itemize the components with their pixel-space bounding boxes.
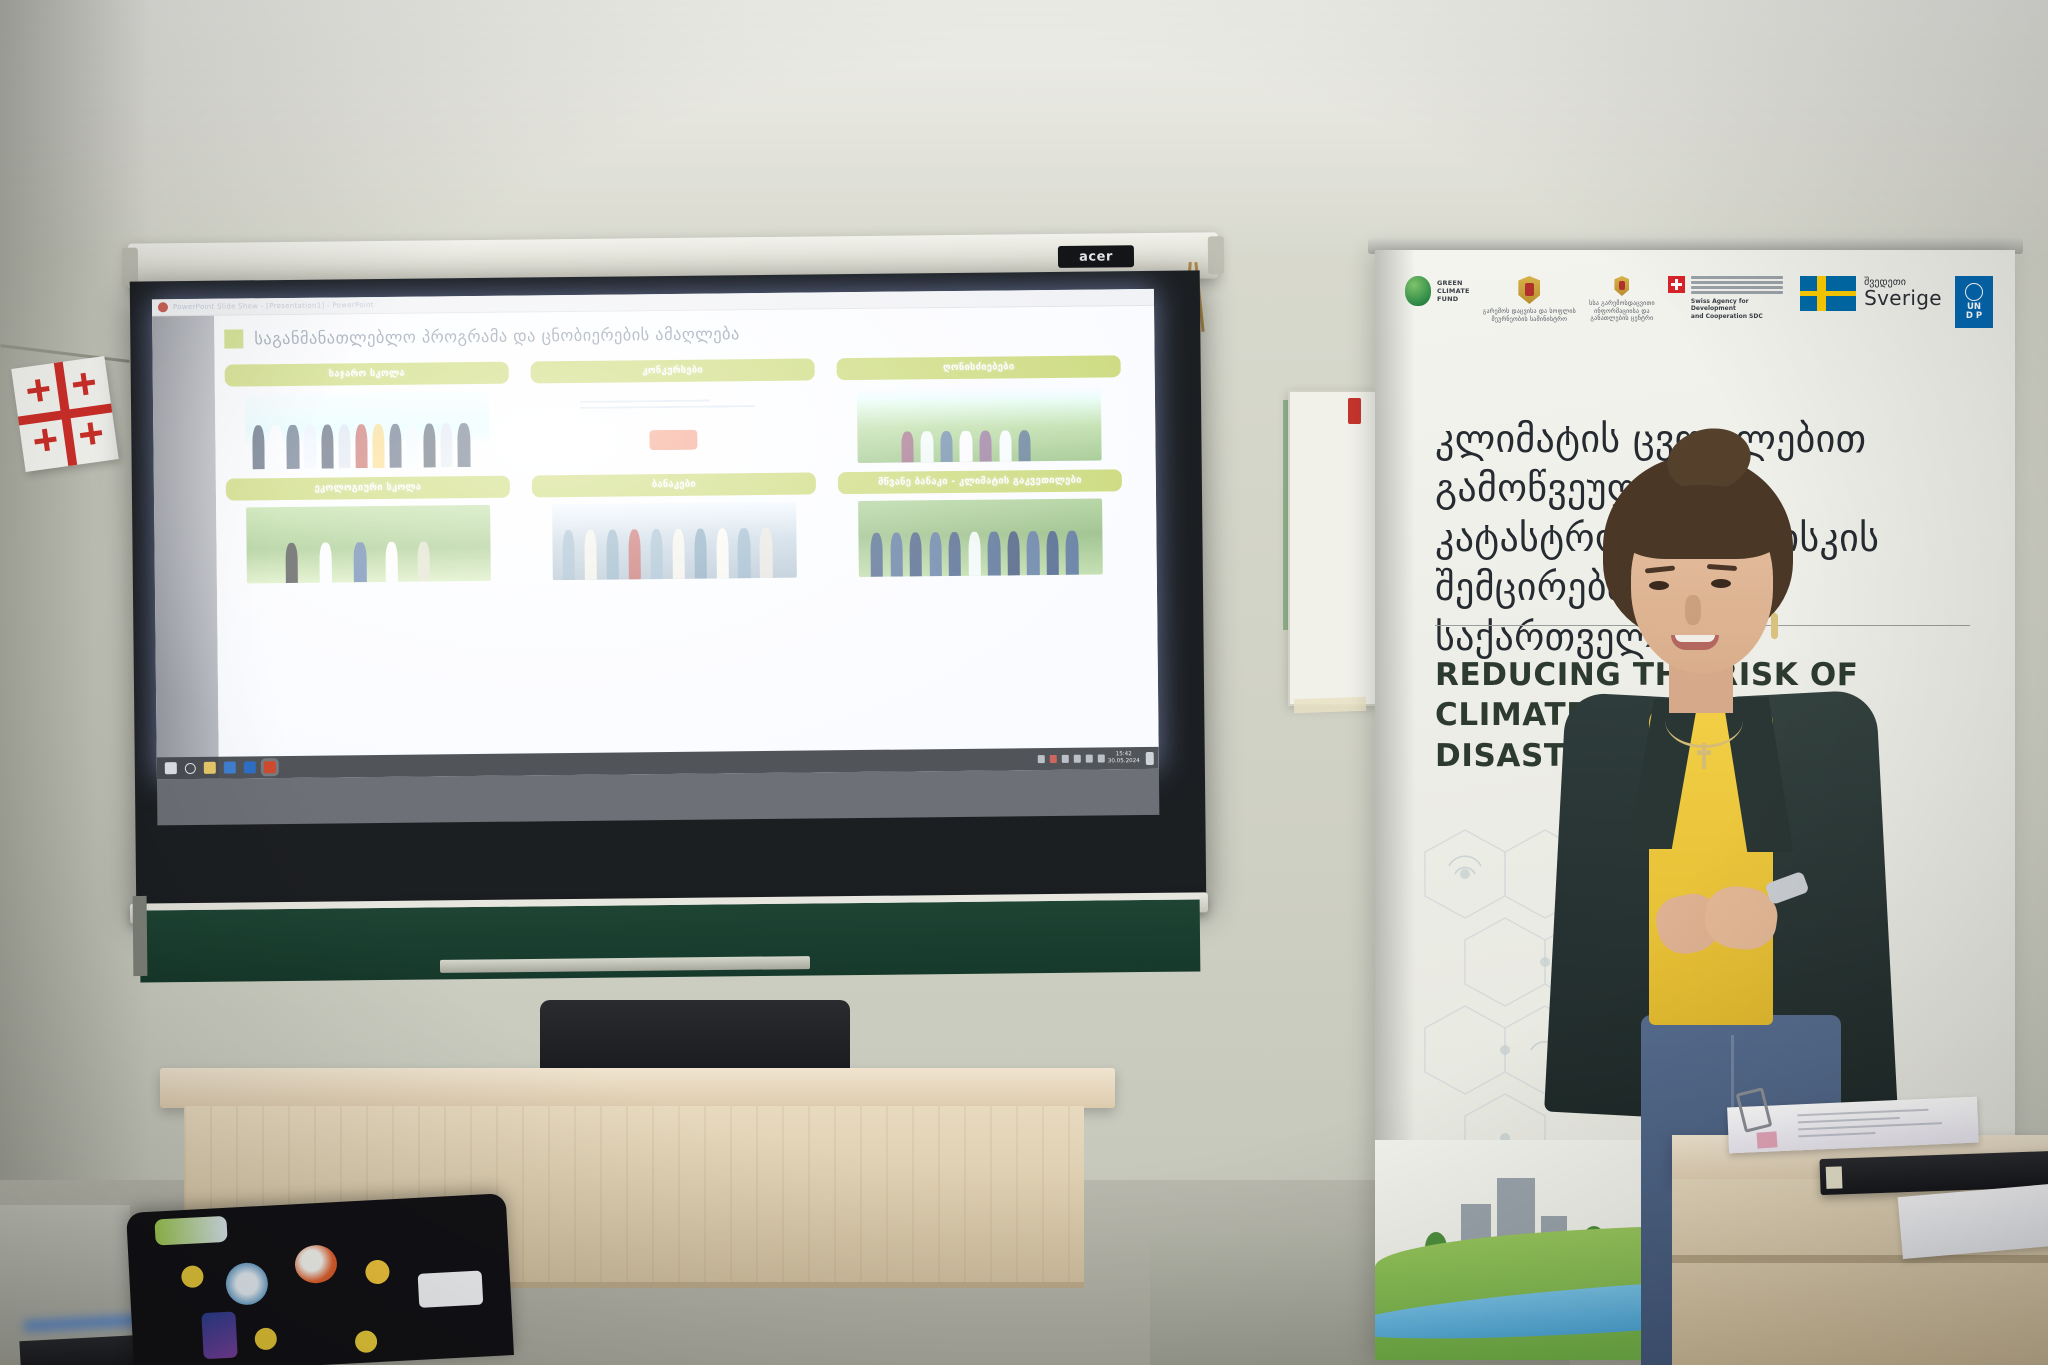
laptop-sticker bbox=[418, 1271, 484, 1308]
swiss-mark: Swiss Agency for Developmentand Cooperat… bbox=[1668, 276, 1787, 321]
globe-icon bbox=[1405, 276, 1431, 306]
teeth bbox=[1675, 635, 1715, 642]
projected-powerpoint-window[interactable]: PowerPoint Slide Show - [Presentation1] … bbox=[152, 289, 1159, 779]
slide-cell-label: ბანაკები bbox=[532, 472, 816, 497]
small-whiteboard bbox=[1288, 390, 1377, 706]
photo-crowd-shapes bbox=[552, 527, 797, 580]
taskbar-spacer bbox=[284, 759, 1038, 767]
eye-right bbox=[1711, 579, 1731, 588]
sweden-caption-en: Sverige bbox=[1864, 288, 1942, 309]
hydrometeorology-agency-logo: სსა გარემოსდაცვითიინფორმაციისა დაგანათლე… bbox=[1589, 276, 1655, 323]
photo-document-mark bbox=[649, 430, 698, 450]
sdc-logo-subcaption: Swiss Agency for Developmentand Cooperat… bbox=[1691, 298, 1787, 321]
eye-left bbox=[1649, 581, 1669, 590]
chalkboard-left-edge bbox=[133, 896, 148, 976]
swiss-caption-lines bbox=[1691, 276, 1787, 294]
flag-small-cross bbox=[33, 428, 58, 453]
slide-cell: ბანაკები bbox=[532, 472, 817, 580]
slide-content-grid: საჯარო სკოლა bbox=[225, 355, 1131, 583]
photo-crowd-shapes bbox=[246, 541, 491, 583]
slide-title-row: საგანმანათლებლო პროგრამა და ცნობიერების … bbox=[224, 320, 1128, 348]
store-icon[interactable] bbox=[224, 762, 236, 774]
powerpoint-icon[interactable] bbox=[264, 761, 276, 773]
search-icon[interactable] bbox=[185, 762, 196, 773]
show-desktop-icon[interactable] bbox=[1146, 751, 1154, 764]
slide-cell-label: საჯარო სკოლა bbox=[225, 362, 509, 387]
battery-icon[interactable] bbox=[1074, 755, 1081, 763]
ministry-logo-caption: გარემოს დაცვისა და სოფლისმეურნეობის სამი… bbox=[1483, 308, 1576, 323]
acer-logo-text: acer bbox=[1079, 249, 1113, 264]
slide-cell-label: ეკოლოგიური სკოლა bbox=[226, 476, 510, 501]
language-icon[interactable] bbox=[1098, 754, 1105, 762]
slide-title-bullet-icon bbox=[224, 329, 243, 348]
right-desk-edge bbox=[1672, 1255, 2048, 1263]
housing-cap-left bbox=[122, 248, 138, 286]
laptop-sticker bbox=[154, 1216, 227, 1246]
taskbar-clock[interactable]: 15:42 30.05.2024 bbox=[1108, 751, 1140, 765]
gcf-logo-caption: GREENCLIMATEFUND bbox=[1437, 279, 1470, 303]
slide-cell: საჯარო სკოლა bbox=[225, 362, 510, 470]
powerpoint-window-title: PowerPoint Slide Show - [Presentation1] … bbox=[173, 301, 374, 311]
georgia-emblem-icon bbox=[1518, 276, 1540, 304]
agency-emblem-icon bbox=[1614, 276, 1629, 296]
swiss-flag-icon bbox=[1668, 276, 1685, 293]
screenshot-root: acer PowerPoint Slide Show - [Presentati… bbox=[0, 0, 2048, 1365]
green-climate-fund-logo: GREENCLIMATEFUND bbox=[1405, 276, 1470, 306]
clock-date: 30.05.2024 bbox=[1108, 758, 1140, 765]
whiteboard-tape bbox=[1294, 697, 1366, 714]
flag-small-cross bbox=[72, 371, 97, 396]
slide-cell-photo bbox=[552, 501, 797, 580]
slide-left-rail bbox=[152, 316, 219, 780]
powerpoint-icon bbox=[158, 302, 168, 312]
sticker-covered-laptop[interactable] bbox=[126, 1193, 514, 1365]
mail-icon[interactable] bbox=[244, 761, 256, 773]
cross-pendant-icon bbox=[1697, 743, 1711, 769]
loose-sheet[interactable] bbox=[1898, 1183, 2048, 1259]
swiss-logo-text: Swiss Agency for Developmentand Cooperat… bbox=[1691, 276, 1787, 321]
slide-cell-label: მწვანე ბანაკი - კლიმატის გაკვეთილები bbox=[838, 469, 1122, 494]
laptop-sticker bbox=[181, 1265, 204, 1288]
laptop-sticker bbox=[225, 1262, 269, 1306]
slide-cell-label: ღონისძიებები bbox=[837, 355, 1121, 380]
housing-cap-right bbox=[1208, 236, 1224, 274]
necklace bbox=[1665, 693, 1743, 748]
start-icon[interactable] bbox=[165, 762, 177, 774]
earring bbox=[1771, 613, 1778, 639]
acer-logo-badge: acer bbox=[1058, 245, 1134, 268]
georgia-ministry-emblem-logo: გარემოს დაცვისა და სოფლისმეურნეობის სამი… bbox=[1483, 276, 1576, 323]
laptop-sticker bbox=[355, 1330, 378, 1353]
wall-highlight bbox=[0, 0, 2048, 260]
undp-mark: UND P bbox=[1955, 276, 1993, 328]
slide-cell-photo bbox=[245, 391, 490, 470]
slide-title: საგანმანათლებლო პროგრამა და ცნობიერების … bbox=[254, 324, 740, 348]
windows-desktop-area bbox=[157, 769, 1159, 825]
projector-screen-surface: PowerPoint Slide Show - [Presentation1] … bbox=[130, 270, 1207, 911]
volume-icon[interactable] bbox=[1086, 755, 1093, 763]
slide-cell-photo bbox=[858, 498, 1103, 577]
flag-small-cross bbox=[79, 422, 104, 447]
onedrive-icon[interactable] bbox=[1050, 755, 1057, 763]
undp-letters: UND P bbox=[1966, 303, 1982, 321]
slide-cell-photo bbox=[551, 388, 796, 467]
sweden-logo-text: შვედეთი Sverige bbox=[1864, 278, 1942, 309]
desk-top-surface bbox=[160, 1068, 1115, 1108]
network-icon[interactable] bbox=[1062, 755, 1069, 763]
pink-sticky-tab[interactable] bbox=[1756, 1131, 1777, 1148]
hair-front bbox=[1621, 485, 1781, 559]
slide-cell-photo bbox=[857, 384, 1102, 463]
sverige-sweden-logo: შვედეთი Sverige bbox=[1800, 276, 1942, 311]
flag-small-cross bbox=[26, 378, 51, 403]
slide-cell-photo bbox=[246, 505, 491, 584]
laptop-sticker bbox=[201, 1311, 237, 1359]
wall-shadow-left bbox=[0, 0, 150, 1365]
chevron-up-icon[interactable] bbox=[1038, 755, 1045, 763]
slide-cell: ეკოლოგიური სკოლა bbox=[226, 476, 511, 584]
laptop-sticker bbox=[254, 1327, 277, 1350]
slide-cell-label: კონკურსები bbox=[531, 358, 815, 383]
sweden-mark: შვედეთი Sverige bbox=[1800, 276, 1942, 311]
photo-crowd-shapes bbox=[245, 423, 490, 470]
photo-document-lines bbox=[580, 398, 766, 424]
agency-logo-caption: სსა გარემოსდაცვითიინფორმაციისა დაგანათლე… bbox=[1589, 300, 1655, 323]
photo-crowd-shapes bbox=[857, 430, 1102, 463]
file-explorer-icon[interactable] bbox=[204, 762, 216, 774]
slide-cell: ღონისძიებები bbox=[837, 355, 1122, 463]
paper-text-lines bbox=[1797, 1108, 1958, 1143]
slide-cell: კონკურსები bbox=[531, 358, 816, 466]
banner-logo-row: GREENCLIMATEFUND გარემოს დაცვისა და სოფლ… bbox=[1405, 276, 1993, 352]
slide-cell: მწვანე ბანაკი - კლიმატის გაკვეთილები bbox=[838, 469, 1123, 577]
georgian-five-cross-flag bbox=[11, 356, 119, 472]
gcf-mark: GREENCLIMATEFUND bbox=[1405, 276, 1470, 306]
sweden-flag-icon bbox=[1800, 276, 1856, 311]
photo-crowd-shapes bbox=[858, 530, 1103, 577]
slide-canvas: საგანმანათლებლო პროგრამა და ცნობიერების … bbox=[214, 306, 1159, 779]
system-tray[interactable] bbox=[1038, 754, 1105, 763]
laptop-sticker bbox=[294, 1244, 338, 1284]
swiss-confederation-sdc-logo: Swiss Agency for Developmentand Cooperat… bbox=[1668, 276, 1787, 321]
whiteboard-red-marker[interactable] bbox=[1348, 398, 1361, 424]
grey-equipment-box bbox=[0, 1205, 130, 1355]
nose bbox=[1685, 595, 1701, 625]
undp-logo: UND P bbox=[1955, 276, 1993, 328]
undp-globe-icon bbox=[1965, 283, 1983, 301]
laptop-sticker bbox=[365, 1259, 390, 1284]
